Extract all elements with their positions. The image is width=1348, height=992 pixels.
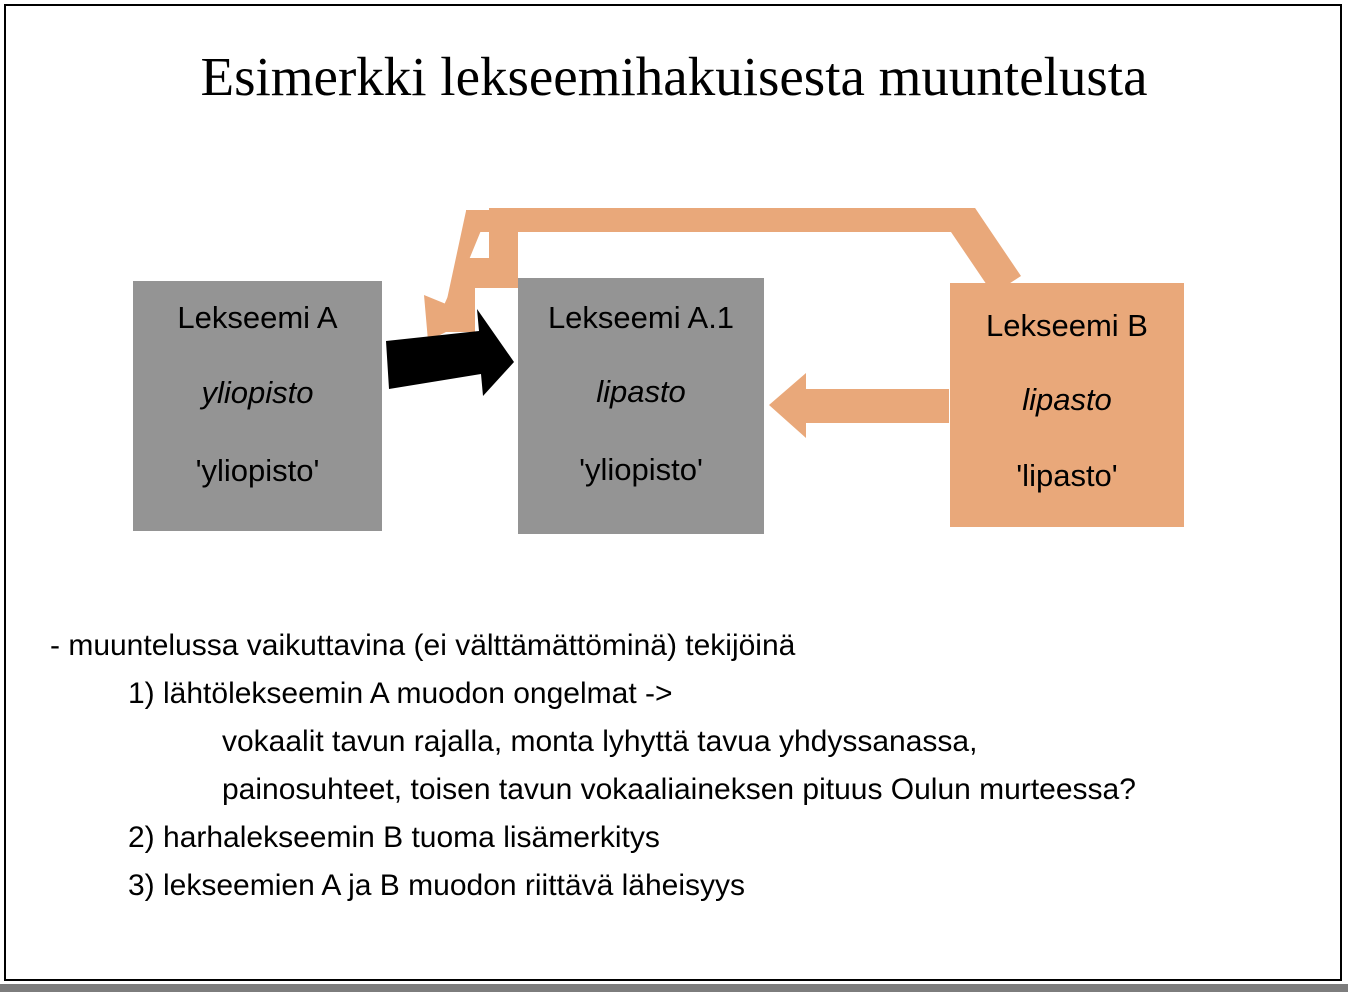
notes-line: 2) harhalekseemin B tuoma lisämerkitys — [50, 814, 1310, 862]
box-a-form: yliopisto — [133, 375, 382, 411]
notes-line: vokaalit tavun rajalla, monta lyhyttä ta… — [50, 718, 1310, 766]
notes-line: - muuntelussa vaikuttavina (ei välttämät… — [50, 622, 1310, 670]
notes-line: 1) lähtölekseemin A muodon ongelmat -> — [50, 670, 1310, 718]
box-b-meaning: 'lipasto' — [950, 458, 1184, 494]
slide-canvas: Esimerkki lekseemihakuisesta muuntelusta… — [0, 0, 1348, 992]
notes-line: 3) lekseemien A ja B muodon riittävä läh… — [50, 862, 1310, 910]
box-a-label: Lekseemi A — [133, 300, 382, 336]
notes-block: - muuntelussa vaikuttavina (ei välttämät… — [50, 622, 1310, 910]
notes-line: painosuhteet, toisen tavun vokaaliaineks… — [50, 766, 1310, 814]
box-a1-meaning: 'yliopisto' — [518, 452, 764, 488]
box-a1-label: Lekseemi A.1 — [518, 300, 764, 336]
diagram-box-lekseemi-b[interactable]: Lekseemi B lipasto 'lipasto' — [950, 283, 1184, 527]
box-a-meaning: 'yliopisto' — [133, 453, 382, 489]
box-b-form: lipasto — [950, 382, 1184, 418]
diagram-box-lekseemi-a[interactable]: Lekseemi A yliopisto 'yliopisto' — [133, 281, 382, 531]
box-a1-form: lipasto — [518, 374, 764, 410]
bottom-strip — [0, 984, 1348, 992]
page-title: Esimerkki lekseemihakuisesta muuntelusta — [0, 46, 1348, 108]
box-b-label: Lekseemi B — [950, 308, 1184, 344]
diagram-box-lekseemi-a1[interactable]: Lekseemi A.1 lipasto 'yliopisto' — [518, 278, 764, 534]
